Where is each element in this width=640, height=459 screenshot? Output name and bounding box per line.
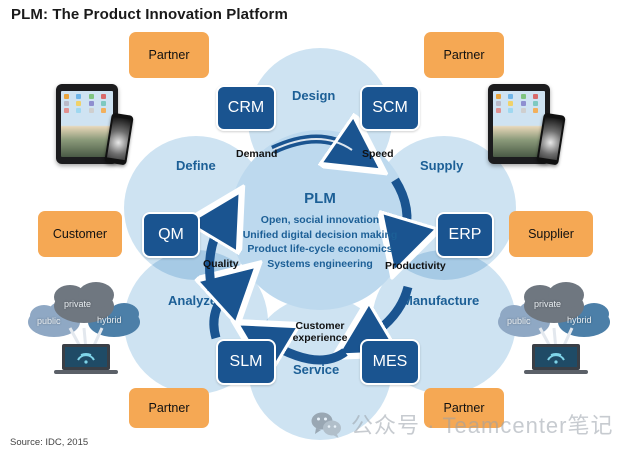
pill-partner-top-right[interactable]: Partner: [424, 32, 504, 78]
plm-heading: PLM: [0, 190, 640, 207]
annotation-speed: Speed: [362, 148, 394, 160]
source-note: Source: IDC, 2015: [10, 437, 88, 448]
pill-partner-bottom-left[interactable]: Partner: [129, 388, 209, 428]
module-label-crm: CRM: [228, 99, 264, 117]
petal-label-manufacture: Manufacture: [402, 293, 479, 308]
watermark: 公众号 · Teamcenter笔记: [310, 408, 614, 440]
cloud-label-public: public: [37, 316, 61, 326]
cloud-label-hybrid: hybrid: [97, 315, 122, 325]
annotation-customer-experience: Customer experience: [286, 321, 354, 344]
wechat-icon: [310, 410, 344, 438]
smartphone-screen: [107, 117, 131, 160]
cloud-label-hybrid: hybrid: [567, 315, 592, 325]
annotation-demand: Demand: [236, 148, 277, 160]
pill-label: Supplier: [528, 227, 574, 241]
device-cluster-left: [56, 84, 176, 164]
cloud-laptop-left: private public hybrid: [26, 270, 146, 375]
page-title: PLM: The Product Innovation Platform: [11, 6, 288, 23]
watermark-text: 公众号 · Teamcenter笔记: [351, 408, 614, 440]
petal-label-service: Service: [293, 362, 339, 377]
pill-customer[interactable]: Customer: [38, 211, 122, 257]
pill-supplier[interactable]: Supplier: [509, 211, 593, 257]
module-box-mes[interactable]: MES: [360, 339, 420, 385]
annotation-productivity: Productivity: [385, 260, 446, 272]
cloud-laptop-right: private public hybrid: [496, 270, 616, 375]
pill-label: Partner: [444, 48, 485, 62]
pill-label: Partner: [149, 48, 190, 62]
laptop-icon: [524, 344, 588, 374]
petal-label-design: Design: [292, 88, 335, 103]
tablet-screen: [493, 91, 545, 157]
module-box-scm[interactable]: SCM: [360, 85, 420, 131]
module-label-scm: SCM: [372, 99, 408, 117]
cloud-label-private: private: [64, 299, 91, 309]
tablet-app-grid: [64, 94, 110, 113]
device-cluster-right: [488, 84, 608, 164]
pill-label: Partner: [149, 401, 190, 415]
cloud-label-private: private: [534, 299, 561, 309]
petal-label-supply: Supply: [420, 158, 463, 173]
slide-canvas: PLM: The Product Innovation Platform Des…: [0, 0, 640, 459]
pill-partner-top-left[interactable]: Partner: [129, 32, 209, 78]
tablet-app-grid: [496, 94, 542, 113]
annotation-customer-experience-line-1: Customer: [286, 321, 354, 333]
module-label-mes: MES: [373, 353, 408, 371]
annotation-customer-experience-line-2: experience: [286, 333, 354, 345]
cloud-label-public: public: [507, 316, 531, 326]
laptop-icon: [54, 344, 118, 374]
module-box-slm[interactable]: SLM: [216, 339, 276, 385]
pill-label: Customer: [53, 227, 107, 241]
module-label-slm: SLM: [230, 353, 263, 371]
plm-value-line-4: Systems engineering: [0, 257, 640, 272]
annotation-quality: Quality: [203, 258, 239, 270]
petal-label-define: Define: [176, 158, 216, 173]
petal-label-analyze: Analyze: [168, 293, 217, 308]
module-box-crm[interactable]: CRM: [216, 85, 276, 131]
smartphone-screen: [539, 117, 563, 160]
tablet-screen: [61, 91, 113, 157]
